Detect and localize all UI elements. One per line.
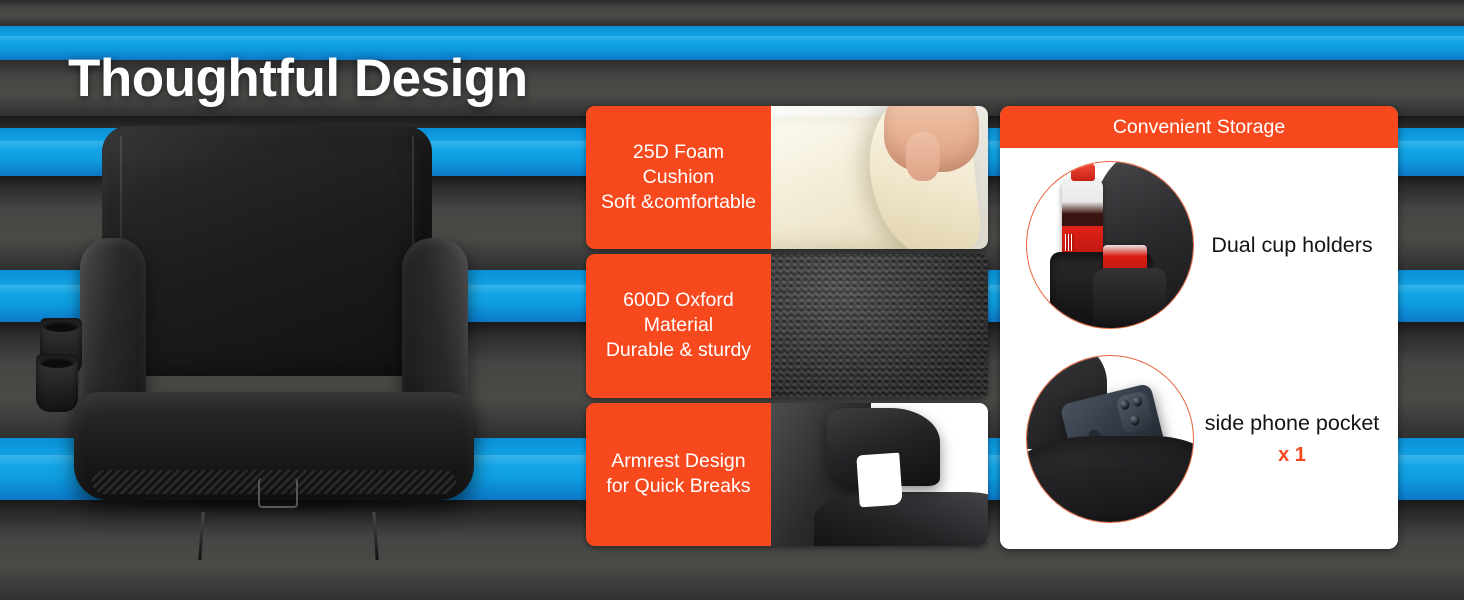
feature-card-caption: 25D Foam Cushion Soft &comfortable <box>586 106 771 249</box>
phone-pocket-label: side phone pocket <box>1205 411 1380 435</box>
feature-card-armrest-design[interactable]: Armrest Design for Quick Breaks <box>586 403 988 546</box>
cup-holder-caption: Dual cup holders <box>1194 231 1398 259</box>
caption-line: Soft &comfortable <box>601 190 756 215</box>
caption-line: 600D Oxford <box>606 288 751 313</box>
phone-pocket-photo <box>1026 355 1194 523</box>
feature-card-oxford-material[interactable]: 600D Oxford Material Durable & sturdy <box>586 254 988 397</box>
infographic-stage: Thoughtful Design 25D Foam Cushion Soft … <box>0 0 1464 600</box>
caption-line: Armrest Design <box>606 449 750 474</box>
cup-holder-photo <box>1026 161 1194 329</box>
storage-panel: Convenient Storage Dual cup holders <box>1000 106 1398 549</box>
oxford-fabric-photo <box>771 254 988 397</box>
caption-line: Durable & sturdy <box>606 338 751 363</box>
caption-line: 25D Foam <box>601 140 756 165</box>
feature-card-caption: 600D Oxford Material Durable & sturdy <box>586 254 771 397</box>
phone-pocket-quantity: x 1 <box>1194 441 1390 469</box>
feature-card-foam-cushion[interactable]: 25D Foam Cushion Soft &comfortable <box>586 106 988 249</box>
phone-pocket-caption: side phone pocket x 1 <box>1194 409 1398 469</box>
storage-row-cup-holders[interactable]: Dual cup holders <box>1000 150 1398 340</box>
armrest-photo <box>771 403 988 546</box>
feature-card-list: 25D Foam Cushion Soft &comfortable 600D … <box>586 106 988 546</box>
caption-line: for Quick Breaks <box>606 474 750 499</box>
chair-cup-holder-lower <box>36 354 78 412</box>
foam-cushion-photo <box>771 106 988 249</box>
chair-backrest <box>102 126 432 376</box>
caption-line: Cushion <box>601 165 756 190</box>
background-band-dark <box>0 0 1464 26</box>
product-chair-image <box>22 120 522 540</box>
storage-row-phone-pocket[interactable]: side phone pocket x 1 <box>1000 344 1398 534</box>
caption-line: Material <box>606 313 751 338</box>
page-title: Thoughtful Design <box>68 48 528 109</box>
chair-latch <box>258 478 298 508</box>
storage-panel-title: Convenient Storage <box>1000 106 1398 148</box>
cup-holder-label: Dual cup holders <box>1211 233 1372 257</box>
feature-card-caption: Armrest Design for Quick Breaks <box>586 403 771 546</box>
storage-panel-body: Dual cup holders side phone pocket <box>1000 148 1398 549</box>
